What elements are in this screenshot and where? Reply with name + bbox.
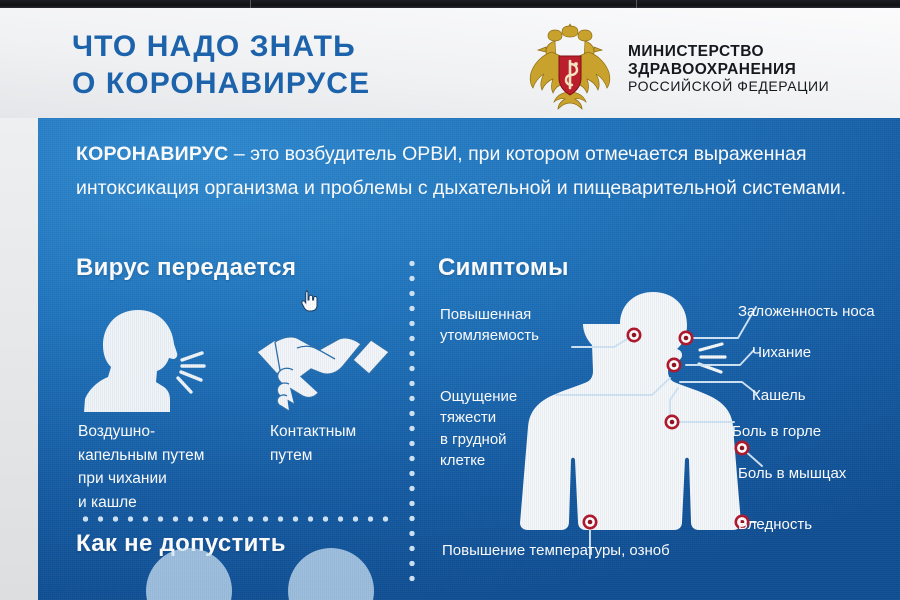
handshake-icon — [253, 316, 393, 416]
ministry-line-3: РОССИЙСКОЙ ФЕДЕРАЦИИ — [628, 79, 829, 95]
symptom-label-sore-throat: Боль в горле — [732, 421, 900, 442]
symptom-label-cough: Кашель — [752, 385, 900, 406]
symptom-label-muscle-pain: Боль в мышцах — [738, 463, 900, 484]
intro-paragraph: КОРОНАВИРУС – это возбудитель ОРВИ, при … — [76, 138, 876, 205]
transmission-caption-airborne: Воздушно- капельным путем при чихании и … — [78, 420, 248, 514]
symptom-label-fatigue: Повышенная утомляемость — [440, 304, 572, 347]
ministry-branding: МИНИСТЕРСТВО ЗДРАВООХРАНЕНИЯ РОССИЙСКОЙ … — [524, 18, 894, 118]
page-title: ЧТО НАДО ЗНАТЬ О КОРОНАВИРУСЕ — [72, 28, 370, 102]
ministry-line-2: ЗДРАВООХРАНЕНИЯ — [628, 61, 829, 79]
hand-pointer-cursor — [301, 290, 319, 312]
symptom-label-fever-chills: Повышение температуры, озноб — [442, 540, 742, 561]
section-heading-symptoms: Симптомы — [438, 254, 569, 282]
infographic-poster: ЧТО НАДО ЗНАТЬ О КОРОНАВИРУСЕ — [0, 0, 900, 600]
intro-lead-word: КОРОНАВИРУС — [76, 143, 228, 165]
symptom-label-chest-heaviness: Ощущение тяжести в грудной клетке — [440, 386, 560, 471]
symptom-label-nasal-congestion: Заложенность носа — [738, 301, 900, 322]
horizontal-dotted-divider — [78, 516, 398, 522]
content-panel: КОРОНАВИРУС – это возбудитель ОРВИ, при … — [38, 118, 900, 600]
poster-header: ЧТО НАДО ЗНАТЬ О КОРОНАВИРУСЕ — [0, 8, 900, 118]
symptom-label-sneezing: Чихание — [752, 342, 900, 363]
transmission-caption-contact: Контактным путем — [270, 420, 420, 467]
screen-bezel-strip — [0, 0, 900, 8]
ministry-name: МИНИСТЕРСТВО ЗДРАВООХРАНЕНИЯ РОССИЙСКОЙ … — [628, 41, 829, 94]
symptom-label-pallor: Бледность — [738, 514, 900, 535]
prevention-icon-bubble — [288, 548, 374, 600]
ministry-line-1: МИНИСТЕРСТВО — [628, 43, 829, 61]
sneezing-head-icon — [78, 308, 218, 414]
section-heading-transmission: Вирус передается — [76, 254, 296, 282]
double-headed-eagle-emblem — [524, 20, 616, 116]
